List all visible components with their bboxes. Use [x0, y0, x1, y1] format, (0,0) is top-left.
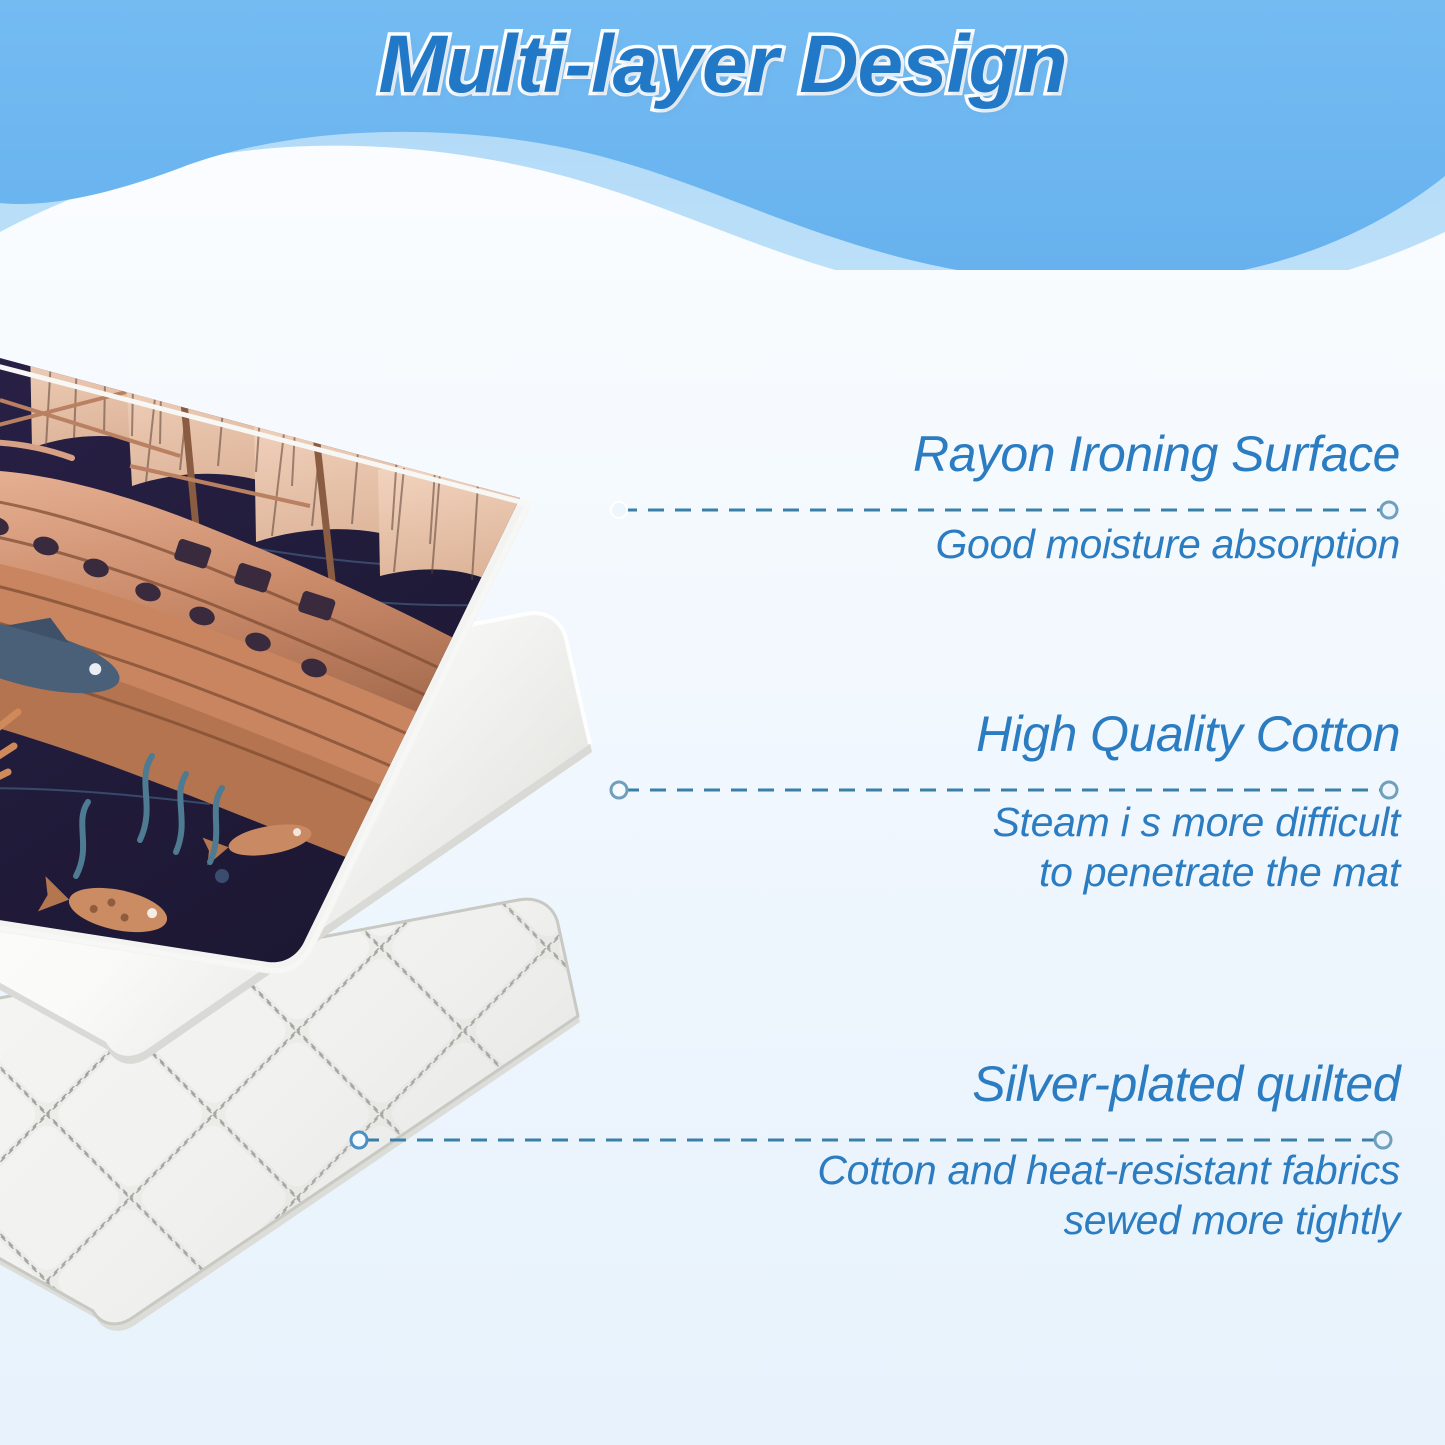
- callout-2-subtitle-line: Steam i s more difficult: [700, 797, 1400, 847]
- callout-2-leader-line: [615, 779, 1405, 803]
- bubble: [215, 869, 229, 883]
- callout-high-quality-cotton: High Quality Cotton Steam i s more diffi…: [700, 705, 1400, 897]
- callout-3-subtitle-line: sewed more tightly: [650, 1195, 1400, 1245]
- callout-2-subtitle-line: to penetrate the mat: [700, 847, 1400, 897]
- callout-2-subtitle: Steam i s more difficult to penetrate th…: [700, 797, 1400, 897]
- product-infographic: Multi-layer Design: [0, 0, 1445, 1445]
- callout-3-subtitle: Cotton and heat-resistant fabrics sewed …: [650, 1145, 1400, 1245]
- callout-rayon-ironing-surface: Rayon Ironing Surface Good moisture abso…: [700, 425, 1400, 569]
- callout-1-subtitle-line: Good moisture absorption: [700, 519, 1400, 569]
- callout-1-subtitle: Good moisture absorption: [700, 519, 1400, 569]
- page-title: Multi-layer Design: [0, 18, 1445, 112]
- callout-1-leader-line: [615, 499, 1405, 523]
- callout-2-title: High Quality Cotton: [700, 705, 1400, 763]
- callout-1-title: Rayon Ironing Surface: [700, 425, 1400, 483]
- callout-silver-plated-quilted: Silver-plated quilted Cotton and heat-re…: [650, 1055, 1400, 1245]
- callout-3-title: Silver-plated quilted: [650, 1055, 1400, 1113]
- callout-3-leader-line: [355, 1129, 1400, 1153]
